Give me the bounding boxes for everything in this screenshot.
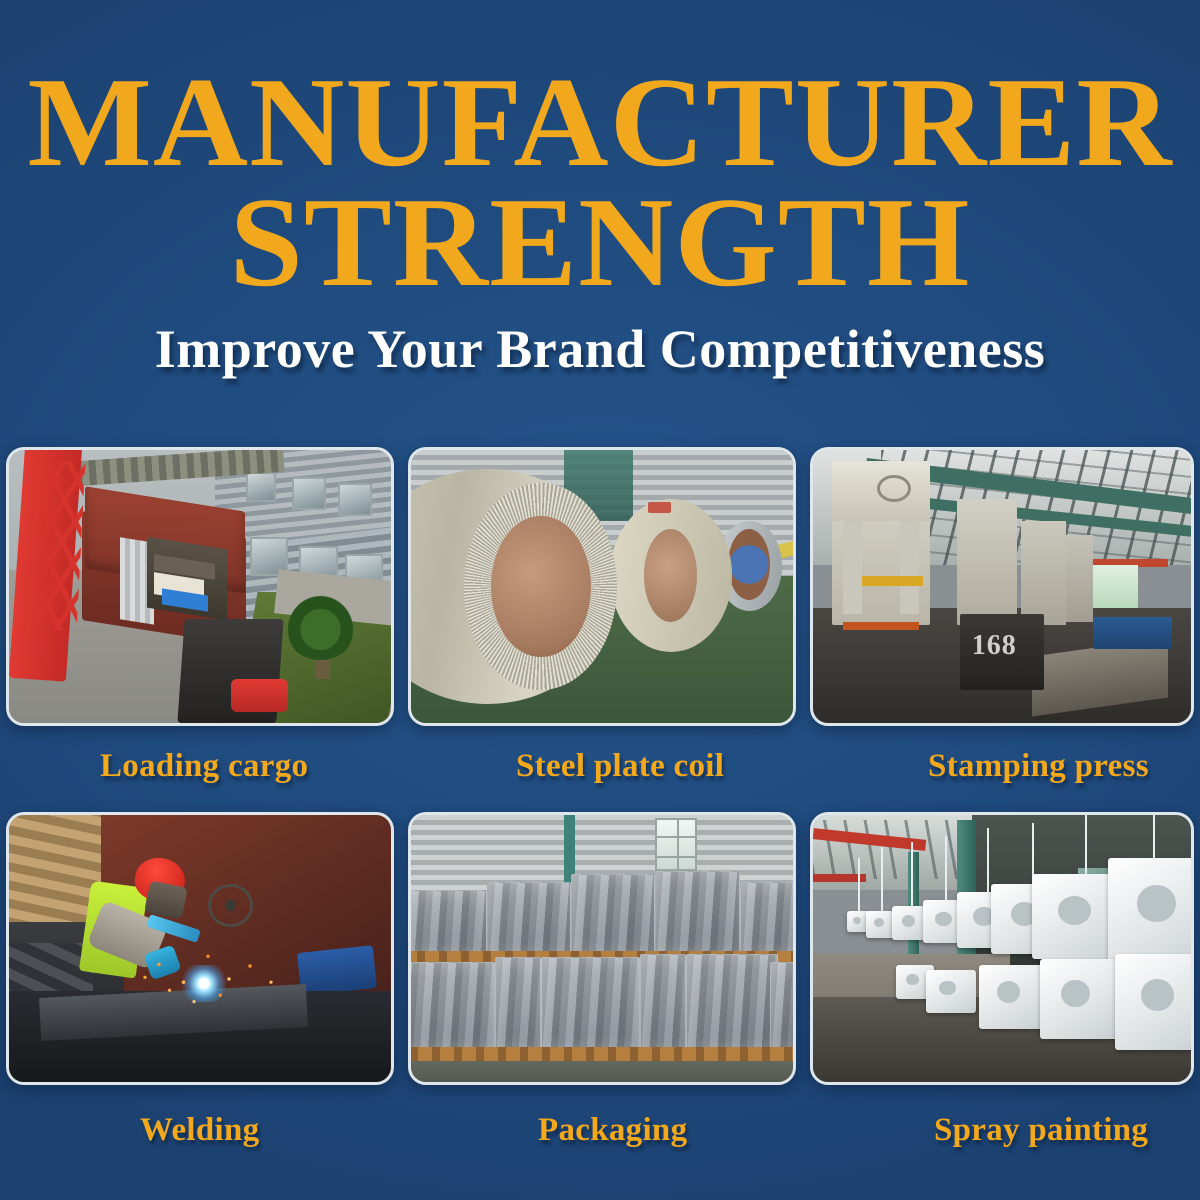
crate-number-label: 168 [972, 630, 1025, 668]
gallery-item-loading-cargo[interactable] [6, 447, 394, 726]
banner-page: MANUFACTURER STRENGTH Improve Your Brand… [0, 0, 1200, 1200]
caption-spray-painting: Spray painting [934, 1112, 1148, 1149]
gallery-item-steel-plate-coil[interactable] [408, 447, 796, 726]
gallery-item-stamping-press[interactable]: 168 [810, 447, 1194, 726]
gallery-item-packaging[interactable] [408, 812, 796, 1085]
photo-loading-cargo [6, 447, 394, 726]
caption-packaging: Packaging [538, 1112, 687, 1149]
caption-steel-plate-coil: Steel plate coil [516, 748, 724, 785]
photo-spray-painting [810, 812, 1194, 1085]
caption-welding: Welding [140, 1112, 259, 1149]
photo-stamping-press: 168 [810, 447, 1194, 726]
caption-stamping-press: Stamping press [928, 748, 1149, 785]
photo-welding [6, 812, 394, 1085]
gallery-item-spray-painting[interactable] [810, 812, 1194, 1085]
photo-packaging [408, 812, 796, 1085]
caption-loading-cargo: Loading cargo [100, 748, 308, 785]
gallery-item-welding[interactable] [6, 812, 394, 1085]
photo-steel-plate-coil [408, 447, 796, 726]
gallery-grid: Loading cargo St [0, 0, 1200, 1200]
